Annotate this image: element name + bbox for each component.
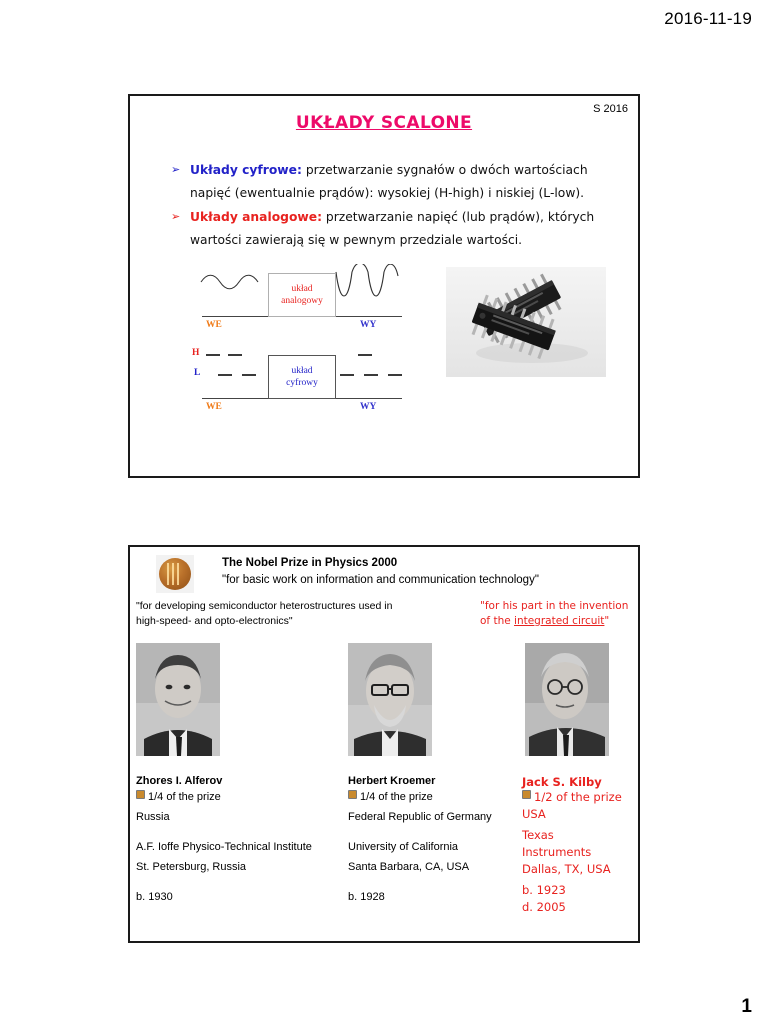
medal-disc-shape: [159, 558, 191, 590]
laureate-country: Federal Republic of Germany: [348, 807, 528, 827]
citation-right-underlined: integrated circuit: [514, 615, 604, 627]
analog-input-port-label: WE: [206, 320, 222, 330]
page-date: 2016-11-19: [664, 9, 752, 29]
digital-output-wire: [336, 398, 402, 399]
analog-output-wire: [336, 316, 402, 317]
nobel-medal-icon: [156, 555, 194, 593]
digital-input-dash: [218, 374, 232, 376]
laureate-affiliation-line2: Instruments: [522, 844, 640, 861]
citation-right-pre: of the: [480, 615, 514, 627]
laureate-share: 1/2 of the prize: [534, 789, 622, 806]
analog-output-port-label: WY: [360, 320, 376, 330]
laureate-country: USA: [522, 806, 640, 823]
digital-input-dash: [228, 354, 242, 356]
portrait-kroemer: [348, 643, 432, 756]
analog-block-box: układ analogowy: [268, 273, 336, 317]
laureate-country: Russia: [136, 807, 346, 827]
laureate-affiliation-line3: Dallas, TX, USA: [522, 861, 640, 878]
citation-left-line1: "for developing semiconductor heterostru…: [136, 599, 392, 614]
digital-output-dash: [358, 354, 372, 356]
laureate-born: b. 1930: [136, 887, 346, 907]
portrait-graphic: [348, 643, 432, 756]
medal-share-icon: [522, 790, 531, 799]
laureate-affiliation-line1: University of California: [348, 837, 528, 857]
citation-left: "for developing semiconductor heterostru…: [136, 599, 392, 629]
integrated-circuit-photo: [446, 267, 606, 377]
bullet-lead-digital: Układy cyfrowe:: [190, 163, 302, 177]
low-level-label: L: [194, 368, 200, 378]
citation-right-line2: of the integrated circuit": [480, 614, 628, 629]
spacer: [348, 877, 528, 887]
spacer: [136, 877, 346, 887]
bullet-text-analog: Układy analogowe: przetwarzanie napięć (…: [190, 206, 604, 252]
analog-box-line2: analogowy: [281, 295, 323, 307]
digital-box-line2: cyfrowy: [286, 377, 318, 389]
laureate-name: Zhores I. Alferov: [136, 775, 346, 787]
digital-block-box: układ cyfrowy: [268, 355, 336, 399]
digital-output-dash: [364, 374, 378, 376]
laureate-born: b. 1928: [348, 887, 528, 907]
slide-nobel-prize-2000: The Nobel Prize in Physics 2000 "for bas…: [128, 545, 640, 943]
diagram-digital: H L układ cyfrowy WE WY: [192, 346, 422, 416]
arrow-bullet-icon: ➢: [168, 206, 190, 229]
analog-input-waveform-icon: [200, 270, 262, 292]
laureate-affiliation-line2: St. Petersburg, Russia: [136, 857, 346, 877]
page-number: 1: [741, 996, 752, 1018]
citation-left-line2: high-speed- and opto-electronics": [136, 614, 392, 629]
diagram-analog: układ analogowy WE WY: [192, 264, 422, 334]
high-level-label: H: [192, 348, 199, 358]
spacer: [348, 827, 528, 837]
spacer: [136, 827, 346, 837]
laureate-card: Jack S. Kilby 1/2 of the prize USA Texas…: [522, 643, 640, 916]
chip-photo-graphic: [446, 267, 606, 377]
laureate-card: Zhores I. Alferov 1/4 of the prize Russi…: [136, 643, 346, 907]
digital-output-port-label: WY: [360, 402, 376, 412]
digital-input-dash: [206, 354, 220, 356]
bullet-item-analog: ➢ Układy analogowe: przetwarzanie napięć…: [168, 206, 604, 252]
digital-input-dash: [242, 374, 256, 376]
laureate-share-row: 1/4 of the prize: [348, 787, 528, 807]
laureate-affiliation-line1: Texas: [522, 827, 640, 844]
arrow-bullet-icon: ➢: [168, 159, 190, 182]
nobel-header: The Nobel Prize in Physics 2000 "for bas…: [130, 555, 638, 597]
portrait-kilby: [525, 643, 609, 756]
block-diagram: układ analogowy WE WY H L: [192, 264, 422, 424]
laureate-share: 1/4 of the prize: [360, 787, 433, 807]
laureate-share: 1/4 of the prize: [148, 787, 221, 807]
bullet-list: ➢ Układy cyfrowe: przetwarzanie sygnałów…: [130, 159, 638, 252]
analog-output-waveform-icon: [334, 264, 400, 314]
digital-output-dash: [340, 374, 354, 376]
slide-uklady-scalone: S 2016 UKŁADY SCALONE ➢ Układy cyfrowe: …: [128, 94, 640, 478]
bullet-lead-analog: Układy analogowe:: [190, 210, 322, 224]
laureate-affiliation-line2: Santa Barbara, CA, USA: [348, 857, 528, 877]
citation-right-post: ": [604, 615, 609, 627]
laureate-died: d. 2005: [522, 899, 640, 916]
nobel-prize-title: The Nobel Prize in Physics 2000: [222, 557, 397, 569]
nobel-prize-motto: "for basic work on information and commu…: [222, 574, 539, 586]
medal-share-icon: [136, 790, 145, 799]
slide-title: UKŁADY SCALONE: [130, 113, 638, 133]
laureate-name: Herbert Kroemer: [348, 775, 528, 787]
laureate-name: Jack S. Kilby: [522, 775, 640, 789]
bullet-text-digital: Układy cyfrowe: przetwarzanie sygnałów o…: [190, 159, 604, 205]
analog-input-wire: [202, 316, 268, 317]
laureate-share-row: 1/2 of the prize: [522, 789, 640, 806]
citation-right: "for his part in the invention of the in…: [480, 599, 628, 629]
citation-right-line1: "for his part in the invention: [480, 599, 628, 614]
figure-area: układ analogowy WE WY H L: [130, 264, 638, 424]
digital-input-port-label: WE: [206, 402, 222, 412]
portrait-alferov: [136, 643, 220, 756]
portrait-graphic: [525, 643, 609, 756]
digital-box-line1: układ: [291, 365, 312, 377]
analog-box-line1: układ: [291, 283, 312, 295]
bullet-item-digital: ➢ Układy cyfrowe: przetwarzanie sygnałów…: [168, 159, 604, 205]
digital-input-wire: [202, 398, 268, 399]
laureate-affiliation-line1: A.F. Ioffe Physico-Technical Institute: [136, 837, 346, 857]
laureate-card: Herbert Kroemer 1/4 of the prize Federal…: [348, 643, 528, 907]
laureate-born: b. 1923: [522, 882, 640, 899]
slide-code-label: S 2016: [593, 103, 628, 115]
portrait-graphic: [136, 643, 220, 756]
digital-output-dash: [388, 374, 402, 376]
medal-share-icon: [348, 790, 357, 799]
laureate-share-row: 1/4 of the prize: [136, 787, 346, 807]
